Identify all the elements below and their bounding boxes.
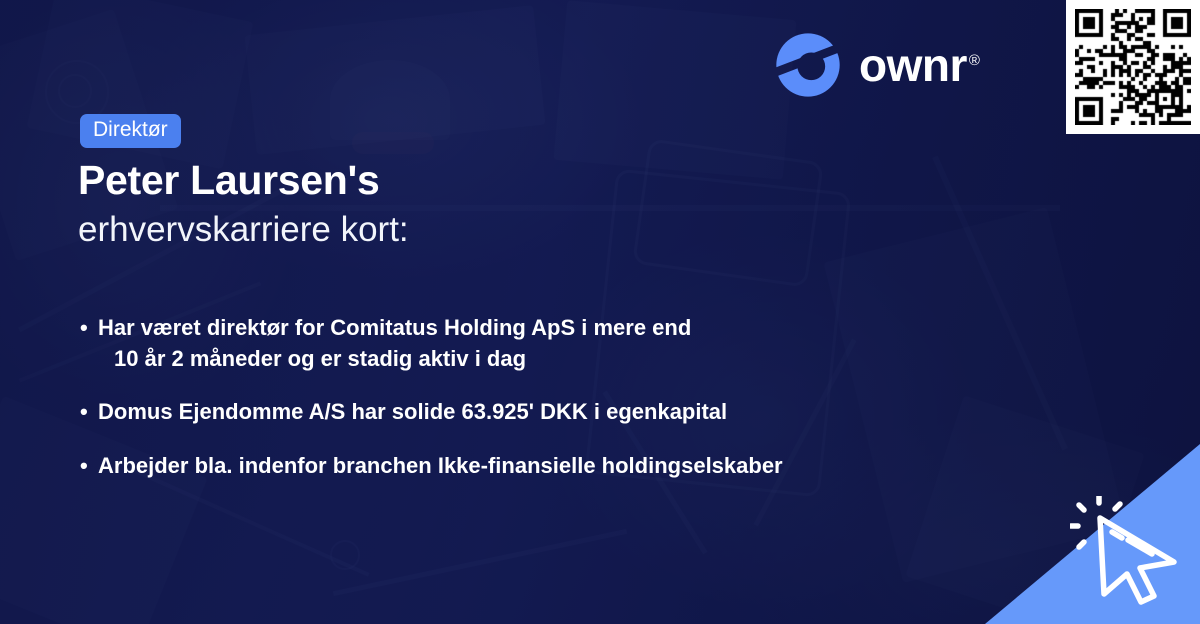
role-badge: Direktør — [80, 114, 181, 148]
list-item-text: Arbejder bla. indenfor branchen Ikke-fin… — [98, 450, 980, 481]
ownr-wordmark: ownr® — [859, 42, 979, 88]
brand-name: ownr — [859, 39, 967, 91]
list-item-line-2: 10 år 2 måneder og er stadig aktiv i dag — [98, 343, 980, 374]
page-subtitle: erhvervskarriere kort: — [78, 209, 409, 251]
promo-card: ownr® Direktør Peter Laursen's erhvervsk… — [0, 0, 1200, 624]
list-item-line-1: Domus Ejendomme A/S har solide 63.925' D… — [98, 399, 727, 424]
qr-code[interactable] — [1066, 0, 1200, 134]
bullet-icon: • — [80, 450, 98, 481]
list-item-line-1: Arbejder bla. indenfor branchen Ikke-fin… — [98, 453, 783, 478]
list-item-text: Domus Ejendomme A/S har solide 63.925' D… — [98, 396, 980, 427]
click-cursor-icon — [1070, 496, 1190, 606]
career-highlights-list: • Har været direktør for Comitatus Holdi… — [80, 312, 980, 503]
bullet-icon: • — [80, 396, 98, 427]
list-item-line-1: Har været direktør for Comitatus Holding… — [98, 315, 691, 340]
ownr-logo: ownr® — [775, 32, 979, 98]
registered-trademark-icon: ® — [969, 52, 980, 69]
page-title: Peter Laursen's — [78, 158, 380, 204]
list-item: • Domus Ejendomme A/S har solide 63.925'… — [80, 396, 980, 427]
ownr-circle-mark-icon — [775, 32, 841, 98]
list-item: • Arbejder bla. indenfor branchen Ikke-f… — [80, 450, 980, 481]
list-item-text: Har været direktør for Comitatus Holding… — [98, 312, 980, 374]
qr-code-image — [1075, 9, 1191, 125]
list-item: • Har været direktør for Comitatus Holdi… — [80, 312, 980, 374]
bullet-icon: • — [80, 312, 98, 343]
